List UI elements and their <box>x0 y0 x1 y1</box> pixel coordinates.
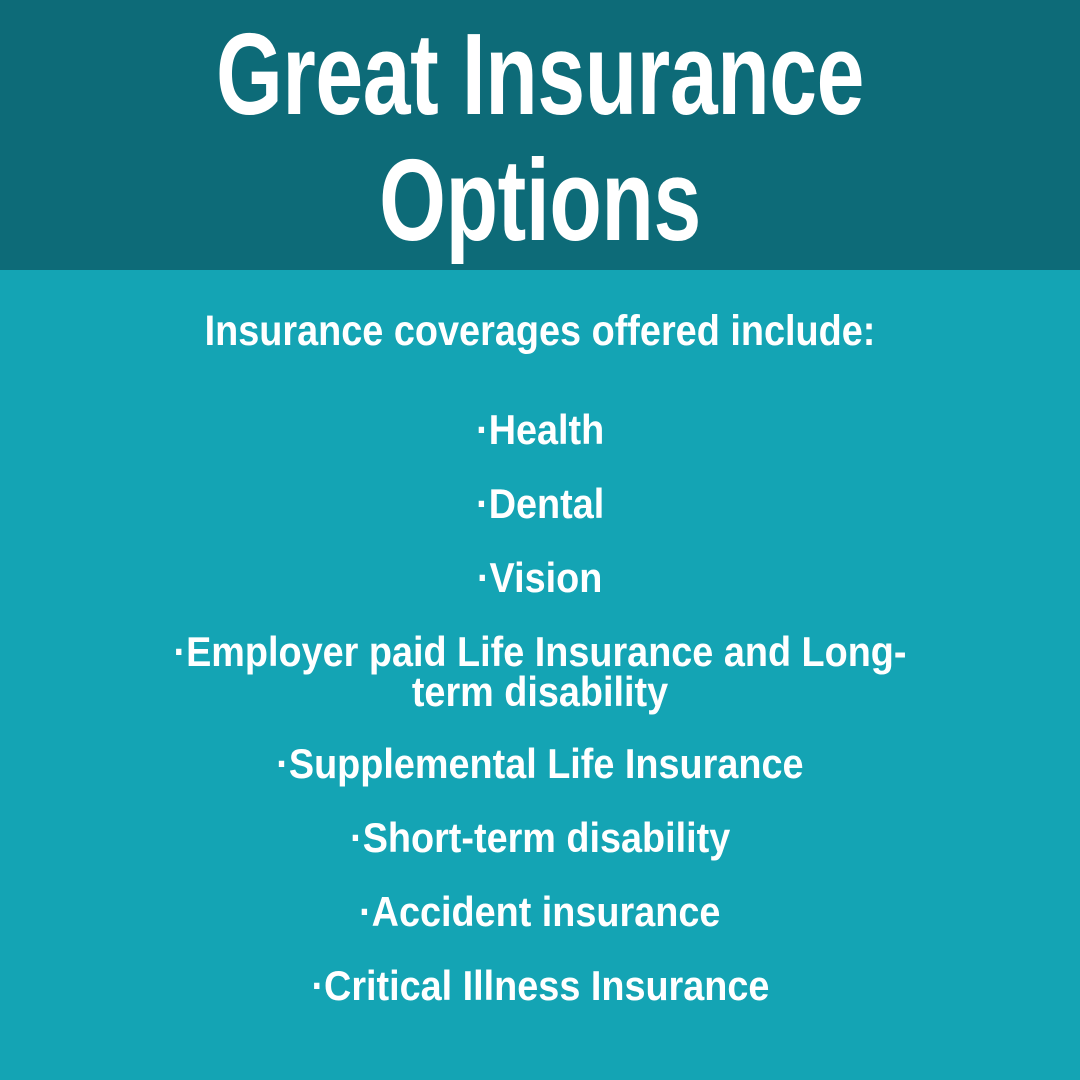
list-item: ·Short-term disability <box>0 818 1080 892</box>
list-item-label: ·Health <box>476 410 604 450</box>
header-band <box>0 0 1080 270</box>
list-item-label: ·Accident insurance <box>359 892 720 932</box>
list-item: ·Employer paid Life Insurance and Long-t… <box>0 632 1080 744</box>
list-item: ·Health <box>0 410 1080 484</box>
list-item-label: ·Critical Illness Insurance <box>311 966 769 1006</box>
list-item: ·Accident insurance <box>0 892 1080 966</box>
coverage-list: ·Health ·Dental ·Vision ·Employer paid L… <box>0 410 1080 1040</box>
list-item: ·Supplemental Life Insurance <box>0 744 1080 818</box>
list-item: ·Vision <box>0 558 1080 632</box>
insurance-options-poster: Great Insurance Options Insurance covera… <box>0 0 1080 1080</box>
list-item: ·Dental <box>0 484 1080 558</box>
list-item-label: ·Supplemental Life Insurance <box>276 744 803 784</box>
list-item: ·Critical Illness Insurance <box>0 966 1080 1040</box>
list-item-label: ·Short-term disability <box>350 818 730 858</box>
list-item-label: ·Employer paid Life Insurance and Long-t… <box>171 632 909 712</box>
subtitle: Insurance coverages offered include: <box>65 303 1015 359</box>
list-item-label: ·Dental <box>476 484 604 524</box>
list-item-label: ·Vision <box>477 558 602 598</box>
